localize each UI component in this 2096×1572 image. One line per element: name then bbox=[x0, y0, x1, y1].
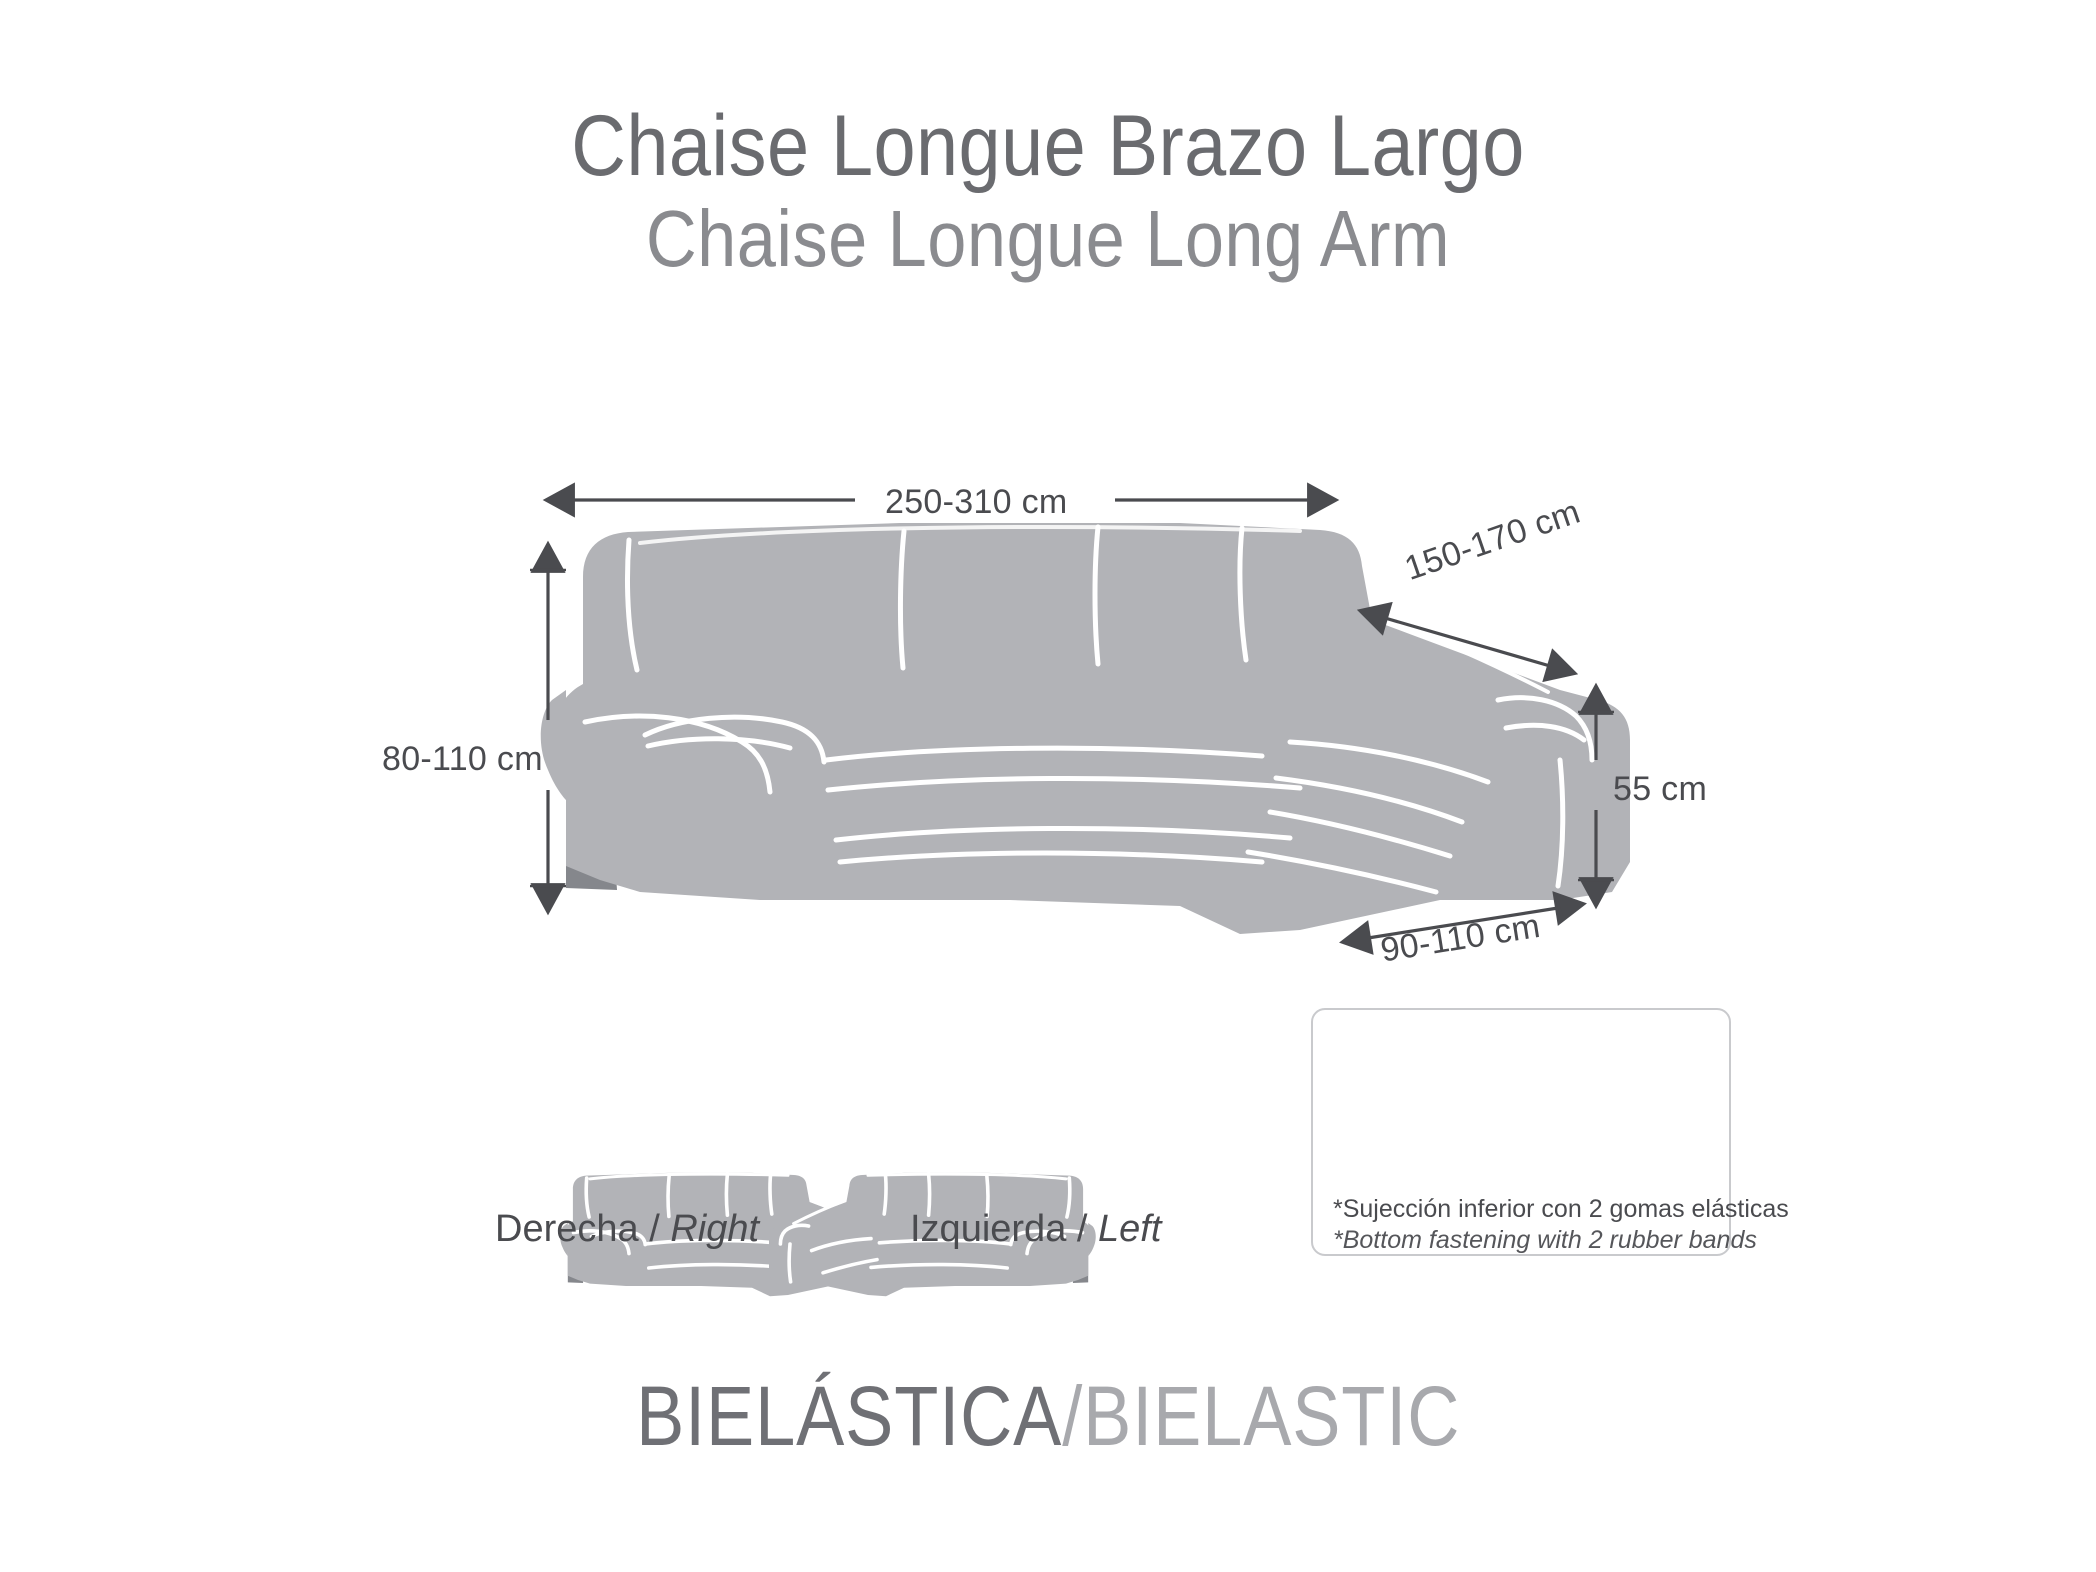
variant-right-spanish: Derecha bbox=[495, 1208, 639, 1250]
arrow-depth bbox=[1385, 618, 1550, 666]
variant-caption-right: Derecha / Right bbox=[495, 1208, 759, 1251]
variant-left-spanish: Izquierda bbox=[910, 1208, 1066, 1250]
title-spanish: Chaise Longue Brazo Largo bbox=[126, 96, 1970, 196]
dimension-label-seat-height: 55 cm bbox=[1613, 770, 1707, 809]
sofa-crease-lines bbox=[585, 527, 1592, 892]
page-title: Chaise Longue Brazo Largo Chaise Longue … bbox=[0, 96, 2096, 286]
footer-spanish: BIELÁSTICA bbox=[636, 1369, 1062, 1463]
sofa-main-illustration bbox=[541, 523, 1630, 934]
variant-left-separator: / bbox=[1066, 1208, 1098, 1250]
sofa-shadow bbox=[566, 780, 617, 890]
variant-caption-left: Izquierda / Left bbox=[910, 1208, 1161, 1251]
footer-english: BIELASTIC bbox=[1083, 1369, 1460, 1463]
variant-right-english: Right bbox=[670, 1208, 759, 1250]
dimension-label-depth: 150-170 cm bbox=[1400, 493, 1585, 589]
dimension-label-chaise-depth: 90-110 cm bbox=[1378, 907, 1543, 971]
footer-separator: / bbox=[1062, 1369, 1083, 1463]
variant-right-separator: / bbox=[639, 1208, 671, 1250]
dimension-label-width: 250-310 cm bbox=[885, 483, 1068, 522]
note-line-english: *Bottom fastening with 2 rubber bands bbox=[1333, 1225, 1733, 1256]
product-spec-sheet: Chaise Longue Brazo Largo Chaise Longue … bbox=[0, 0, 2096, 1572]
fabric-type-footer: BIELÁSTICA/BIELASTIC bbox=[0, 1368, 2096, 1465]
variant-left-english: Left bbox=[1098, 1208, 1161, 1250]
bottom-fastening-note: *Sujección inferior con 2 gomas elástica… bbox=[1333, 1194, 1733, 1256]
sofa-body bbox=[551, 523, 1630, 934]
title-english: Chaise Longue Long Arm bbox=[126, 192, 1970, 286]
dimension-label-height: 80-110 cm bbox=[382, 740, 543, 779]
note-line-spanish: *Sujección inferior con 2 gomas elástica… bbox=[1333, 1194, 1733, 1225]
